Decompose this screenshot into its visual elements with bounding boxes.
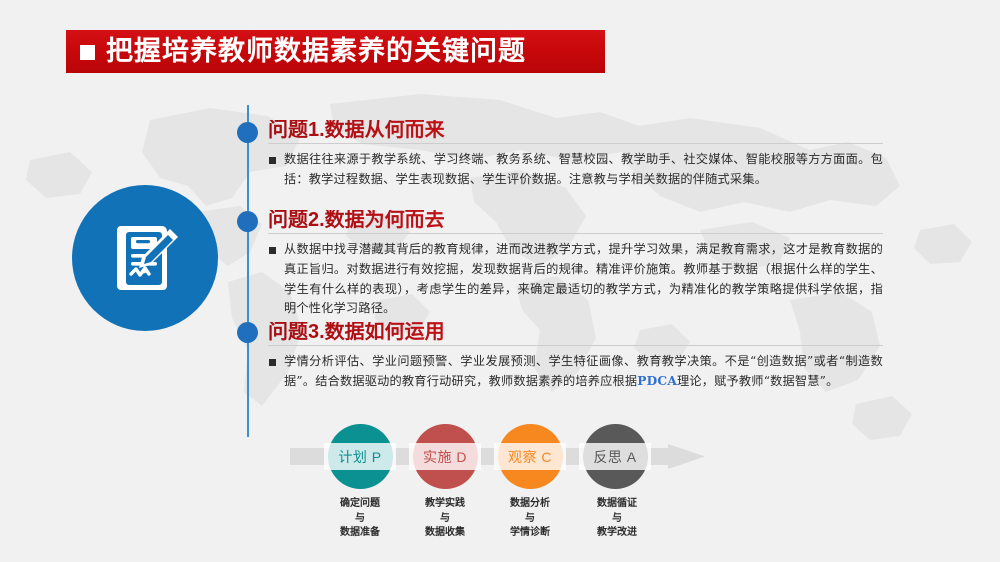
question-2-body-text: 从数据中找寻潜藏其背后的教育规律，进而改进教学方式，提升学习效果，满足教育需求，… bbox=[284, 242, 883, 315]
question-3-heading: 问题3.数据如何运用 bbox=[268, 322, 883, 343]
timeline-dot-3 bbox=[237, 322, 258, 343]
page-title: 把握培养教师数据素养的关键问题 bbox=[106, 38, 526, 65]
question-3-divider bbox=[268, 345, 883, 346]
question-1-divider bbox=[268, 143, 883, 144]
timeline-axis bbox=[247, 105, 249, 437]
pdca-label-a: 反思 A bbox=[579, 443, 651, 470]
document-pen-icon bbox=[97, 210, 193, 306]
question-1-body-text: 数据往往来源于教学系统、学习终端、教务系统、智慧校园、教学助手、社交媒体、智能校… bbox=[284, 152, 883, 186]
question-3-body: 学情分析评估、学业问题预警、学业发展预测、学生特征画像、教育教学决策。不是“创造… bbox=[268, 352, 883, 392]
question-2-body: 从数据中找寻潜藏其背后的教育规律，进而改进教学方式，提升学习效果，满足教育需求，… bbox=[268, 240, 883, 319]
square-bullet-icon bbox=[269, 247, 276, 254]
question-3-body-text-part2: 理论，赋予教师“数据智慧”。 bbox=[677, 374, 839, 388]
pdca-highlight-text: PDCA bbox=[637, 374, 677, 388]
pdca-diagram: 计划 P 实施 D 观察 C 反思 A 确定问题 与 数据准备 教学实践 与 数… bbox=[290, 415, 720, 545]
question-2-heading: 问题2.数据为何而去 bbox=[268, 210, 883, 231]
square-bullet-icon bbox=[269, 157, 276, 164]
timeline-dot-2 bbox=[237, 211, 258, 232]
timeline-dot-1 bbox=[237, 122, 258, 143]
pdca-label-p: 计划 P bbox=[324, 443, 396, 470]
pdca-label-c: 观察 C bbox=[494, 443, 566, 470]
question-block-2: 问题2.数据为何而去 从数据中找寻潜藏其背后的教育规律，进而改进教学方式，提升学… bbox=[268, 210, 883, 319]
question-1-body: 数据往往来源于教学系统、学习终端、教务系统、智慧校园、教学助手、社交媒体、智能校… bbox=[268, 150, 883, 190]
slide-title-bar: 把握培养教师数据素养的关键问题 bbox=[66, 30, 605, 73]
pdca-caption-a: 数据循证 与 教学改进 bbox=[562, 497, 672, 541]
question-block-3: 问题3.数据如何运用 学情分析评估、学业问题预警、学业发展预测、学生特征画像、教… bbox=[268, 322, 883, 392]
square-bullet-icon bbox=[80, 45, 95, 60]
document-pen-badge bbox=[72, 185, 218, 331]
slide-canvas: 把握培养教师数据素养的关键问题 问题1.数据从何而来 bbox=[0, 0, 1000, 562]
question-block-1: 问题1.数据从何而来 数据往往来源于教学系统、学习终端、教务系统、智慧校园、教学… bbox=[268, 120, 883, 190]
pdca-label-d: 实施 D bbox=[409, 443, 481, 470]
question-2-divider bbox=[268, 233, 883, 234]
square-bullet-icon bbox=[269, 359, 276, 366]
question-1-heading: 问题1.数据从何而来 bbox=[268, 120, 883, 141]
